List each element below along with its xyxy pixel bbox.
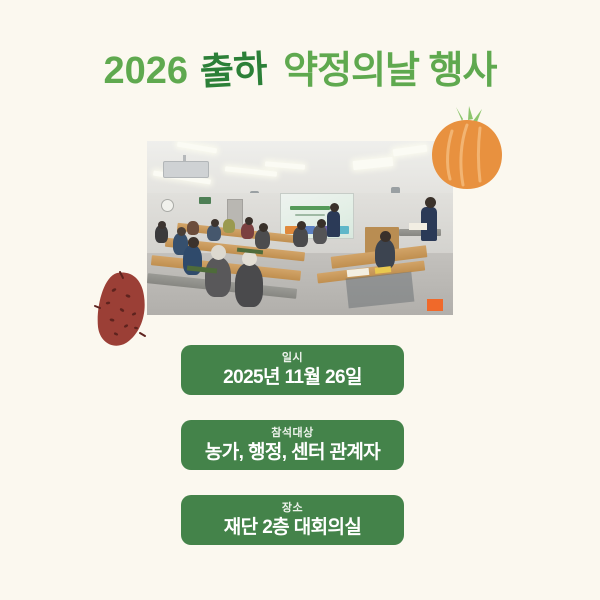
attendee-head	[317, 219, 326, 228]
attendee-head	[158, 221, 166, 229]
attendee	[187, 221, 199, 235]
screen-title-line	[290, 206, 330, 210]
info-value-attendees: 농가, 행정, 센터 관계자	[205, 442, 380, 464]
projector-icon	[163, 161, 209, 178]
orange-box-prop	[427, 299, 443, 311]
document-paper	[409, 223, 427, 230]
info-label-location: 장소	[282, 502, 303, 515]
screen-subtitle-line	[295, 214, 325, 216]
title-rest: 약정의날 행사	[283, 48, 496, 94]
info-label-attendees: 참석대상	[271, 427, 313, 440]
page-title: 2026출하약정의날 행사	[0, 46, 600, 94]
presenter	[327, 211, 340, 237]
info-value-date: 2025년 11월 26일	[223, 367, 362, 389]
seminar-room-image	[147, 141, 453, 315]
attendee	[207, 225, 221, 241]
wall-clock-icon	[161, 199, 174, 212]
attendee	[241, 223, 254, 239]
attendee-head	[188, 237, 199, 248]
info-box-attendees: 참석대상 농가, 행정, 센터 관계자	[181, 420, 404, 470]
info-box-location: 장소 재단 2층 대회의실	[181, 495, 404, 545]
staff-member-head	[425, 197, 436, 208]
attendee-head	[380, 231, 391, 242]
event-photo	[147, 141, 453, 315]
info-value-location: 재단 2층 대회의실	[224, 517, 362, 539]
attendee-head	[177, 227, 186, 236]
attendee-head	[245, 217, 253, 225]
attendee	[205, 257, 231, 297]
info-label-date: 일시	[282, 352, 303, 365]
attendee-head	[211, 245, 226, 260]
attendee	[375, 239, 395, 269]
title-year: 2026	[104, 48, 189, 94]
attendee	[223, 219, 235, 233]
attendee	[255, 229, 270, 249]
attendee-head	[297, 221, 306, 230]
attendee	[293, 227, 308, 247]
onion-icon	[428, 105, 506, 193]
attendee	[235, 263, 263, 307]
info-box-date: 일시 2025년 11월 26일	[181, 345, 404, 395]
attendee-head	[211, 219, 219, 227]
title-highlight: 출하	[199, 46, 268, 95]
attendee-head	[259, 223, 268, 232]
sweet-potato-icon	[92, 270, 156, 348]
event-poster: 2026출하약정의날 행사	[0, 0, 600, 600]
exit-sign-icon	[199, 197, 211, 204]
presenter-head	[330, 203, 339, 212]
